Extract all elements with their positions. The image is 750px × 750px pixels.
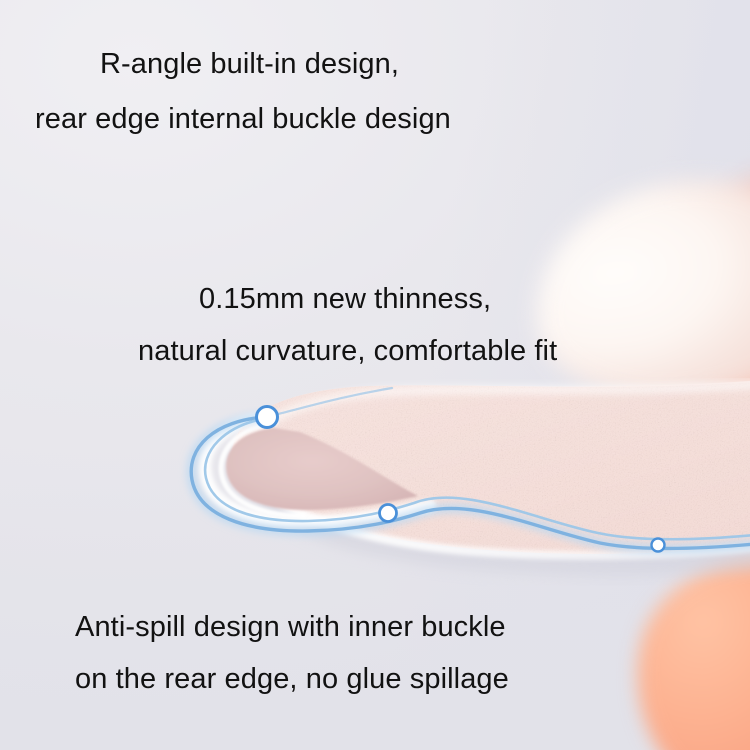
caption-bottom-line2: on the rear edge, no glue spillage (75, 665, 509, 694)
caption-bottom-line1: Anti-spill design with inner buckle (75, 613, 506, 642)
caption-top-line2: rear edge internal buckle design (35, 105, 451, 134)
caption-middle-line1: 0.15mm new thinness, (199, 285, 491, 314)
marker-rear-edge-top[interactable] (257, 407, 278, 428)
caption-middle-line2: natural curvature, comfortable fit (138, 337, 557, 366)
marker-inner-buckle[interactable] (380, 505, 397, 522)
product-image-canvas: R-angle built-in design, rear edge inter… (0, 0, 750, 750)
product-illustration (0, 330, 750, 630)
marker-front-edge[interactable] (652, 539, 665, 552)
caption-top-line1: R-angle built-in design, (100, 50, 399, 79)
